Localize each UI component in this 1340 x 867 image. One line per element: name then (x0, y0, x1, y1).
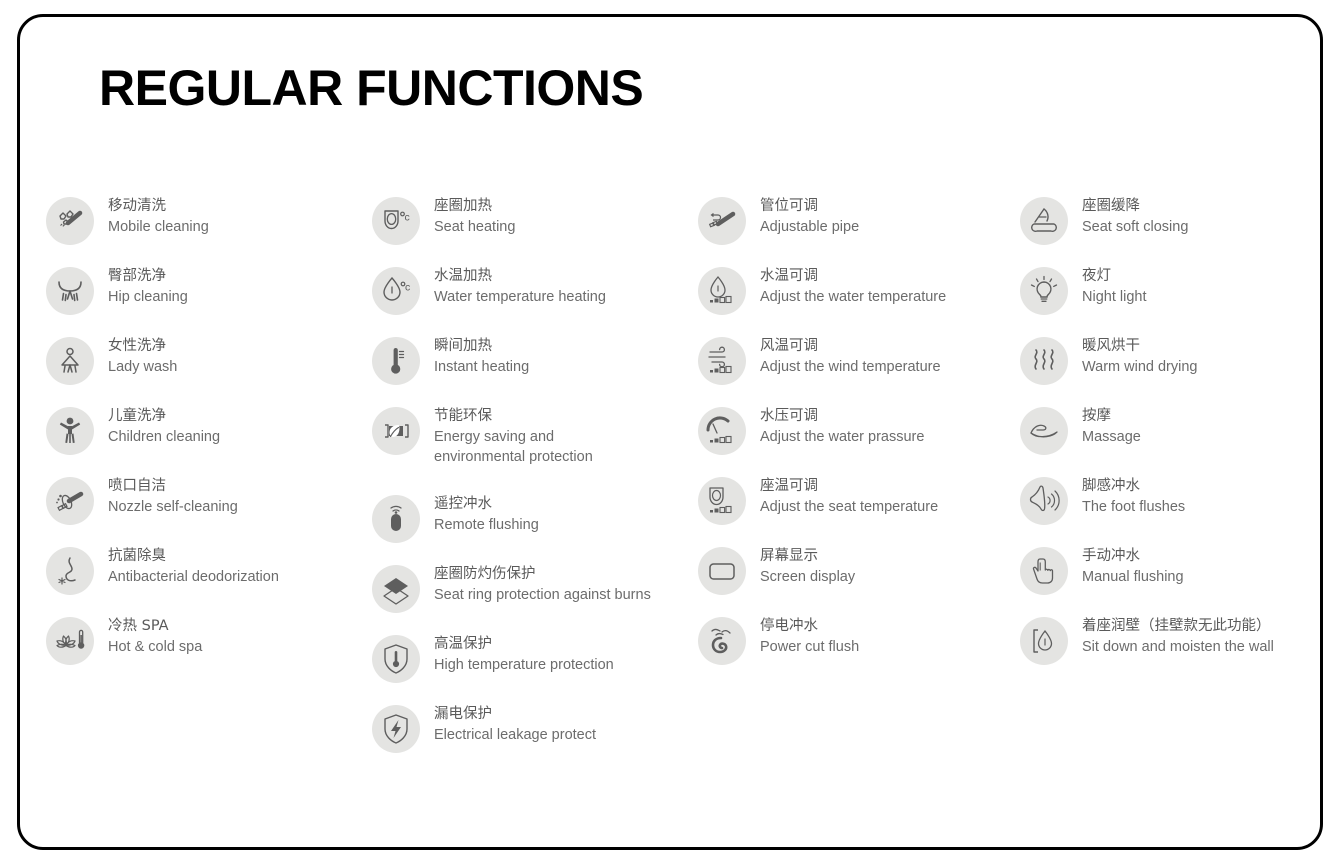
label-group: 座温可调 Adjust the seat temperature (760, 476, 938, 517)
label-group: 臀部洗净 Hip cleaning (108, 266, 188, 307)
function-item-moisten-wall[interactable]: 着座润壁（挂壁款无此功能） Sit down and moisten the w… (1020, 616, 1306, 686)
adjust-seat-temperature-icon (698, 477, 746, 525)
label-group: 冷热 SPA Hot & cold spa (108, 616, 202, 657)
seat-heating-icon: c (372, 197, 420, 245)
label-en: Adjust the wind temperature (760, 357, 941, 377)
adjust-water-pressure-icon (698, 407, 746, 455)
label-cn: 高温保护 (434, 634, 614, 655)
functions-column-3: 管位可调 Adjustable pipe (698, 196, 1020, 686)
label-en: High temperature protection (434, 655, 614, 675)
label-cn: 座圈缓降 (1082, 196, 1188, 217)
label-group: 着座润壁（挂壁款无此功能） Sit down and moisten the w… (1082, 616, 1274, 657)
label-en: Manual flushing (1082, 567, 1184, 587)
label-en: Antibacterial deodorization (108, 567, 279, 587)
label-en: Children cleaning (108, 427, 220, 447)
page-title: REGULAR FUNCTIONS (99, 63, 643, 113)
label-en: The foot flushes (1082, 497, 1185, 517)
label-en: Power cut flush (760, 637, 859, 657)
label-en: Adjust the water temperature (760, 287, 946, 307)
function-item-adjust-wind-temperature[interactable]: 风温可调 Adjust the wind temperature (698, 336, 1020, 406)
label-en: Mobile cleaning (108, 217, 209, 237)
power-cut-flush-icon (698, 617, 746, 665)
label-cn: 漏电保护 (434, 704, 596, 725)
water-temperature-heating-icon: c (372, 267, 420, 315)
label-group: 儿童洗净 Children cleaning (108, 406, 220, 447)
label-group: 高温保护 High temperature protection (434, 634, 614, 675)
nozzle-self-cleaning-icon (46, 477, 94, 525)
function-item-mobile-cleaning[interactable]: 移动清洗 Mobile cleaning (46, 196, 372, 266)
label-group: 女性洗净 Lady wash (108, 336, 177, 377)
label-cn: 脚感冲水 (1082, 476, 1185, 497)
electrical-leakage-protect-icon (372, 705, 420, 753)
function-item-manual-flushing[interactable]: 手动冲水 Manual flushing (1020, 546, 1306, 616)
label-cn: 按摩 (1082, 406, 1141, 427)
function-item-adjust-water-temperature[interactable]: 水温可调 Adjust the water temperature (698, 266, 1020, 336)
label-group: 按摩 Massage (1082, 406, 1141, 447)
label-group: 水温可调 Adjust the water temperature (760, 266, 946, 307)
seat-soft-closing-icon (1020, 197, 1068, 245)
svg-text:c: c (405, 212, 410, 224)
label-cn: 遥控冲水 (434, 494, 539, 515)
function-item-instant-heating[interactable]: 瞬间加热 Instant heating (372, 336, 698, 406)
label-cn: 瞬间加热 (434, 336, 529, 357)
function-item-power-cut-flush[interactable]: 停电冲水 Power cut flush (698, 616, 1020, 686)
label-group: 风温可调 Adjust the wind temperature (760, 336, 941, 377)
adjust-water-temperature-icon (698, 267, 746, 315)
label-cn: 臀部洗净 (108, 266, 188, 287)
label-group: 抗菌除臭 Antibacterial deodorization (108, 546, 279, 587)
label-en: Seat soft closing (1082, 217, 1188, 237)
label-en: Water temperature heating (434, 287, 606, 307)
function-item-foot-flush[interactable]: 脚感冲水 The foot flushes (1020, 476, 1306, 546)
label-group: 瞬间加热 Instant heating (434, 336, 529, 377)
label-cn: 水温可调 (760, 266, 946, 287)
function-item-adjustable-pipe[interactable]: 管位可调 Adjustable pipe (698, 196, 1020, 266)
antibacterial-deodorization-icon (46, 547, 94, 595)
label-group: 屏幕显示 Screen display (760, 546, 855, 587)
function-item-antibacterial-deodorization[interactable]: 抗菌除臭 Antibacterial deodorization (46, 546, 372, 616)
remote-flushing-icon (372, 495, 420, 543)
label-group: 喷口自洁 Nozzle self-cleaning (108, 476, 238, 517)
functions-column-1: 移动清洗 Mobile cleaning 臀部洗净 (46, 196, 372, 686)
moisten-wall-icon (1020, 617, 1068, 665)
label-group: 水压可调 Adjust the water prassure (760, 406, 924, 447)
screen-display-icon (698, 547, 746, 595)
label-en: Adjustable pipe (760, 217, 859, 237)
label-cn: 停电冲水 (760, 616, 859, 637)
label-cn: 抗菌除臭 (108, 546, 279, 567)
function-item-water-temperature-heating[interactable]: c 水温加热 Water temperature heating (372, 266, 698, 336)
label-group: 座圈缓降 Seat soft closing (1082, 196, 1188, 237)
function-item-remote-flushing[interactable]: 遥控冲水 Remote flushing (372, 494, 698, 564)
label-cn: 暖风烘干 (1082, 336, 1198, 357)
function-item-night-light[interactable]: 夜灯 Night light (1020, 266, 1306, 336)
label-group: 暖风烘干 Warm wind drying (1082, 336, 1198, 377)
foot-flush-icon (1020, 477, 1068, 525)
label-en: Hot & cold spa (108, 637, 202, 657)
label-cn: 着座润壁（挂壁款无此功能） (1082, 616, 1274, 637)
svg-text:c: c (405, 282, 410, 294)
label-en: Lady wash (108, 357, 177, 377)
label-cn: 风温可调 (760, 336, 941, 357)
function-item-adjust-seat-temperature[interactable]: 座温可调 Adjust the seat temperature (698, 476, 1020, 546)
function-item-massage[interactable]: 按摩 Massage (1020, 406, 1306, 476)
label-group: 遥控冲水 Remote flushing (434, 494, 539, 535)
function-item-lady-wash[interactable]: 女性洗净 Lady wash (46, 336, 372, 406)
function-item-electrical-leakage-protect[interactable]: 漏电保护 Electrical leakage protect (372, 704, 698, 774)
label-en: Hip cleaning (108, 287, 188, 307)
label-en: Adjust the water prassure (760, 427, 924, 447)
energy-saving-icon (372, 407, 420, 455)
label-group: 夜灯 Night light (1082, 266, 1146, 307)
adjustable-pipe-icon (698, 197, 746, 245)
label-en: Screen display (760, 567, 855, 587)
label-cn: 移动清洗 (108, 196, 209, 217)
functions-column-4: 座圈缓降 Seat soft closing 夜灯 Ni (1020, 196, 1306, 686)
functions-grid: 移动清洗 Mobile cleaning 臀部洗净 (46, 196, 1306, 774)
instant-heating-icon (372, 337, 420, 385)
label-cn: 管位可调 (760, 196, 859, 217)
function-item-energy-saving[interactable]: 节能环保 Energy saving and environmental pro… (372, 406, 698, 494)
function-item-seat-soft-closing[interactable]: 座圈缓降 Seat soft closing (1020, 196, 1306, 266)
label-cn: 节能环保 (434, 406, 619, 427)
label-cn: 座圈加热 (434, 196, 515, 217)
label-cn: 儿童洗净 (108, 406, 220, 427)
label-group: 停电冲水 Power cut flush (760, 616, 859, 657)
function-item-hot-cold-spa[interactable]: 冷热 SPA Hot & cold spa (46, 616, 372, 686)
label-group: 座圈加热 Seat heating (434, 196, 515, 237)
label-cn: 屏幕显示 (760, 546, 855, 567)
hip-cleaning-icon (46, 267, 94, 315)
label-en: Electrical leakage protect (434, 725, 596, 745)
label-cn: 喷口自洁 (108, 476, 238, 497)
mobile-cleaning-icon (46, 197, 94, 245)
label-cn: 水压可调 (760, 406, 924, 427)
manual-flushing-icon (1020, 547, 1068, 595)
function-item-high-temperature-protection[interactable]: 高温保护 High temperature protection (372, 634, 698, 704)
hot-cold-spa-icon (46, 617, 94, 665)
functions-column-2: c 座圈加热 Seat heating c (372, 196, 698, 774)
label-group: 移动清洗 Mobile cleaning (108, 196, 209, 237)
label-cn: 女性洗净 (108, 336, 177, 357)
function-item-nozzle-self-cleaning[interactable]: 喷口自洁 Nozzle self-cleaning (46, 476, 372, 546)
label-cn: 冷热 SPA (108, 616, 202, 637)
function-item-hip-cleaning[interactable]: 臀部洗净 Hip cleaning (46, 266, 372, 336)
label-en: Adjust the seat temperature (760, 497, 938, 517)
function-item-children-cleaning[interactable]: 儿童洗净 Children cleaning (46, 406, 372, 476)
label-en: Nozzle self-cleaning (108, 497, 238, 517)
function-item-warm-wind-drying[interactable]: 暖风烘干 Warm wind drying (1020, 336, 1306, 406)
label-cn: 夜灯 (1082, 266, 1146, 287)
label-cn: 手动冲水 (1082, 546, 1184, 567)
function-item-screen-display[interactable]: 屏幕显示 Screen display (698, 546, 1020, 616)
label-cn: 座温可调 (760, 476, 938, 497)
label-en: Sit down and moisten the wall (1082, 637, 1274, 657)
label-group: 节能环保 Energy saving and environmental pro… (434, 406, 619, 467)
function-item-seat-heating[interactable]: c 座圈加热 Seat heating (372, 196, 698, 266)
function-item-seat-ring-burn-protection[interactable]: 座圈防灼伤保护 Seat ring protection against bur… (372, 564, 698, 634)
seat-ring-burn-protection-icon (372, 565, 420, 613)
label-cn: 座圈防灼伤保护 (434, 564, 651, 585)
massage-icon (1020, 407, 1068, 455)
high-temperature-protection-icon (372, 635, 420, 683)
warm-wind-drying-icon (1020, 337, 1068, 385)
label-cn: 水温加热 (434, 266, 606, 287)
label-en: Energy saving and environmental protecti… (434, 427, 619, 467)
label-en: Remote flushing (434, 515, 539, 535)
poster-page: REGULAR FUNCTIONS (0, 0, 1340, 867)
night-light-icon (1020, 267, 1068, 315)
label-group: 座圈防灼伤保护 Seat ring protection against bur… (434, 564, 651, 605)
lady-wash-icon (46, 337, 94, 385)
label-en: Warm wind drying (1082, 357, 1198, 377)
adjust-wind-temperature-icon (698, 337, 746, 385)
label-en: Instant heating (434, 357, 529, 377)
label-group: 手动冲水 Manual flushing (1082, 546, 1184, 587)
label-group: 水温加热 Water temperature heating (434, 266, 606, 307)
label-group: 脚感冲水 The foot flushes (1082, 476, 1185, 517)
children-cleaning-icon (46, 407, 94, 455)
label-en: Seat ring protection against burns (434, 585, 651, 605)
label-group: 漏电保护 Electrical leakage protect (434, 704, 596, 745)
label-group: 管位可调 Adjustable pipe (760, 196, 859, 237)
label-en: Seat heating (434, 217, 515, 237)
label-en: Night light (1082, 287, 1146, 307)
label-en: Massage (1082, 427, 1141, 447)
function-item-adjust-water-pressure[interactable]: 水压可调 Adjust the water prassure (698, 406, 1020, 476)
